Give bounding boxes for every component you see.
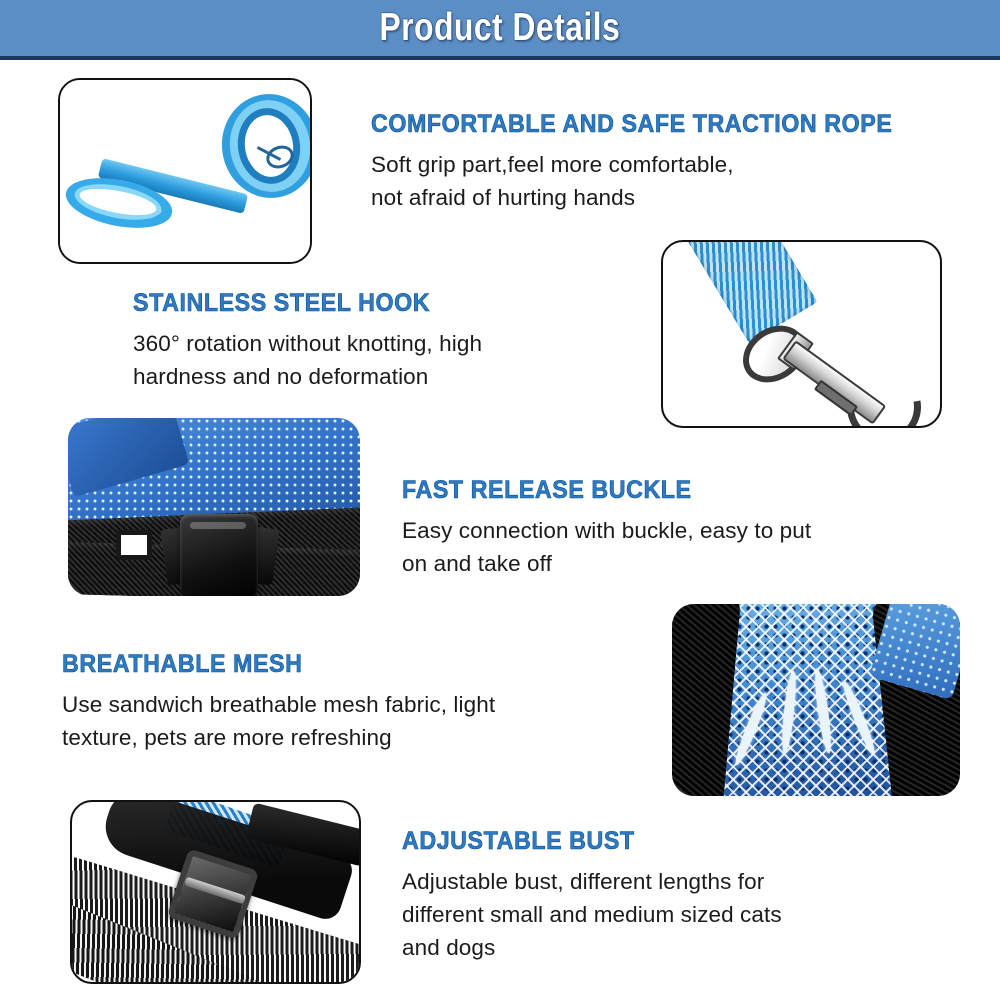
feature-text-breathable-mesh: BREATHABLE MESH Use sandwich breathable …	[62, 650, 495, 754]
steel-hook-illustration	[663, 242, 940, 426]
page-title: Product Details	[380, 6, 621, 50]
feature-body-line: and dogs	[402, 931, 782, 964]
feature-body-line: texture, pets are more refreshing	[62, 721, 495, 754]
feature-heading-traction-rope: COMFORTABLE AND SAFE TRACTION ROPE	[371, 110, 892, 139]
buckle-highlight	[190, 522, 246, 529]
feature-body-line: Adjustable bust, different lengths for	[402, 865, 782, 898]
adjustable-strap-illustration	[72, 802, 359, 982]
feature-body-line: Soft grip part,feel more comfortable,	[371, 148, 932, 181]
feature-body-line: 360° rotation without knotting, high	[133, 327, 482, 360]
feature-image-steel-hook	[661, 240, 942, 428]
feature-heading-steel-hook: STAINLESS STEEL HOOK	[133, 289, 458, 318]
webbing-strap	[681, 240, 818, 343]
feature-image-release-buckle	[68, 418, 360, 596]
mesh-illustration	[672, 604, 960, 796]
feature-body-line: Use sandwich breathable mesh fabric, lig…	[62, 688, 495, 721]
feature-image-traction-rope	[58, 78, 312, 264]
feature-heading-adjustable-bust: ADJUSTABLE BUST	[402, 827, 755, 856]
header-banner: Product Details	[0, 0, 1000, 60]
feature-text-steel-hook: STAINLESS STEEL HOOK 360° rotation witho…	[133, 289, 482, 393]
buckle-illustration	[68, 418, 360, 596]
webbing-slot	[116, 530, 152, 560]
feature-body-line: hardness and no deformation	[133, 360, 482, 393]
feature-text-traction-rope: COMFORTABLE AND SAFE TRACTION ROPE Soft …	[371, 110, 932, 214]
feature-image-adjustable-bust	[70, 800, 361, 984]
feature-body-line: on and take off	[402, 547, 811, 580]
feature-text-adjustable-bust: ADJUSTABLE BUST Adjustable bust, differe…	[402, 827, 782, 964]
leash-illustration	[60, 80, 310, 262]
feature-body-line: Easy connection with buckle, easy to put	[402, 514, 811, 547]
product-details-infographic: Product Details COMFORTABLE AND SAFE TRA…	[0, 0, 1000, 1000]
feature-heading-release-buckle: FAST RELEASE BUCKLE	[402, 476, 783, 505]
feature-image-breathable-mesh	[672, 604, 960, 796]
feature-heading-breathable-mesh: BREATHABLE MESH	[62, 650, 465, 679]
feature-body-line: different small and medium sized cats	[402, 898, 782, 931]
feature-text-release-buckle: FAST RELEASE BUCKLE Easy connection with…	[402, 476, 811, 580]
feature-body-line: not afraid of hurting hands	[371, 181, 932, 214]
